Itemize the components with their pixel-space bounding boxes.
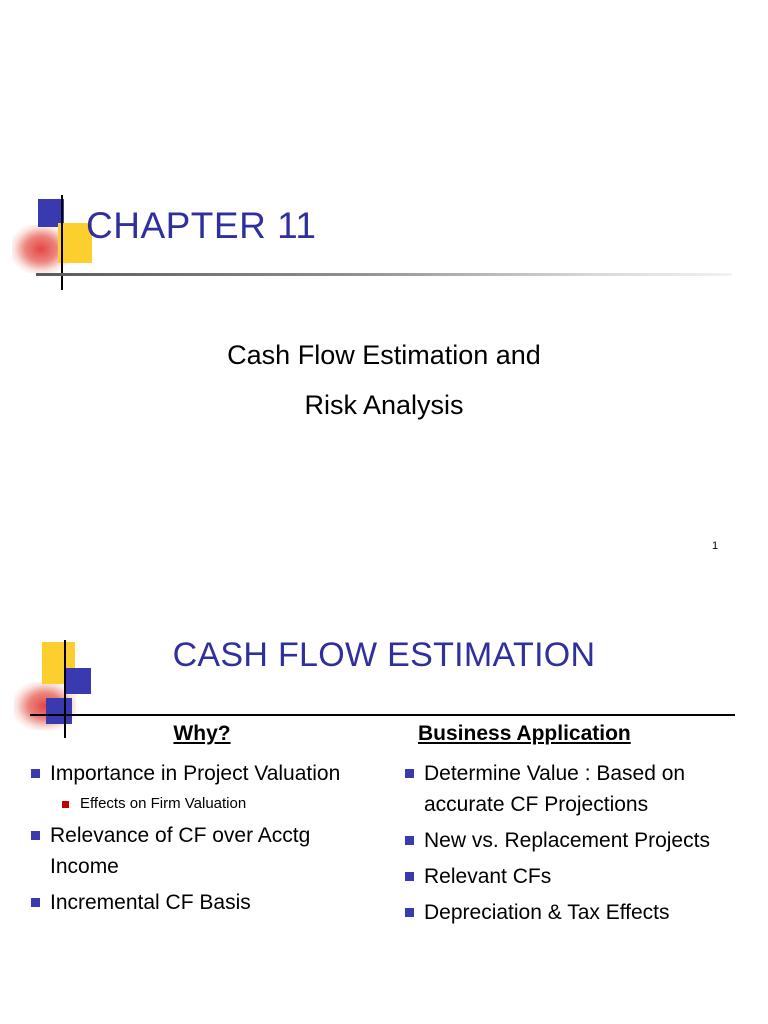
page-title: CHAPTER 11 xyxy=(86,205,317,247)
list-item: Determine Value : Based on accurate CF P… xyxy=(388,758,760,820)
slide-subtitle: Cash Flow Estimation and Risk Analysis xyxy=(0,330,768,430)
list-item-label: Importance in Project Valuation xyxy=(50,762,340,785)
left-column-list: Importance in Project Valuation Effects … xyxy=(14,758,380,918)
square-bullet-icon xyxy=(405,769,414,778)
list-item-label: Relevance of CF over Acctg Income xyxy=(50,824,310,878)
page-number: 1 xyxy=(712,540,718,552)
blue-square-lower-icon xyxy=(46,698,72,724)
list-item: New vs. Replacement Projects xyxy=(388,825,760,856)
small-square-bullet-icon xyxy=(62,801,69,808)
left-column: Why? Importance in Project Valuation Eff… xyxy=(14,722,380,923)
title-divider xyxy=(36,273,732,276)
right-column-list: Determine Value : Based on accurate CF P… xyxy=(388,758,760,928)
list-item: Incremental CF Basis xyxy=(14,887,380,918)
slide-subtitle-line-1: Cash Flow Estimation and xyxy=(0,330,768,380)
slide2-divider xyxy=(30,714,735,716)
right-column: Business Application Determine Value : B… xyxy=(388,722,760,933)
sub-list-item: Effects on Firm Valuation xyxy=(50,793,380,815)
left-column-heading: Why? xyxy=(14,722,380,746)
list-item-label: Determine Value : Based on accurate CF P… xyxy=(424,762,685,816)
list-item: Importance in Project Valuation Effects … xyxy=(14,758,380,815)
square-bullet-icon xyxy=(31,898,40,907)
sub-list: Effects on Firm Valuation xyxy=(50,793,380,815)
list-item-label: Relevant CFs xyxy=(424,865,551,888)
list-item: Depreciation & Tax Effects xyxy=(388,897,760,928)
sub-list-item-label: Effects on Firm Valuation xyxy=(80,795,246,812)
slide2-title: CASH FLOW ESTIMATION xyxy=(0,636,768,675)
right-column-heading: Business Application xyxy=(388,722,760,746)
square-bullet-icon xyxy=(405,908,414,917)
square-bullet-icon xyxy=(405,872,414,881)
slide-subtitle-line-2: Risk Analysis xyxy=(0,380,768,430)
slide-chapter-title: CHAPTER 11 Cash Flow Estimation and Risk… xyxy=(0,0,768,576)
square-bullet-icon xyxy=(31,769,40,778)
list-item-label: Depreciation & Tax Effects xyxy=(424,901,670,924)
list-item-label: New vs. Replacement Projects xyxy=(424,829,710,852)
square-bullet-icon xyxy=(31,831,40,840)
list-item-label: Incremental CF Basis xyxy=(50,891,251,914)
list-item: Relevant CFs xyxy=(388,861,760,892)
list-item: Relevance of CF over Acctg Income xyxy=(14,820,380,882)
square-bullet-icon xyxy=(405,836,414,845)
